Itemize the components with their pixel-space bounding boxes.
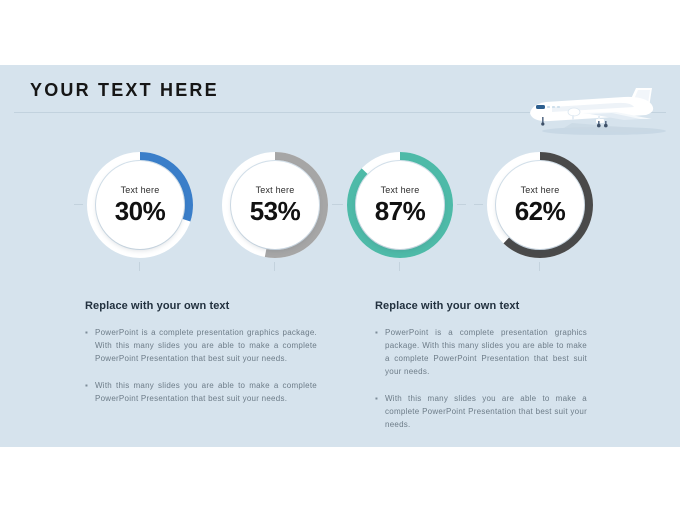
- gauge-1-tick-bottom: [139, 262, 140, 271]
- list-item: ▪ PowerPoint is a complete presentation …: [85, 326, 317, 365]
- gauge-1[interactable]: Text here 30%: [85, 150, 195, 260]
- gauge-3-center: Text here 87%: [356, 161, 444, 249]
- bullet-marker: ▪: [375, 392, 385, 431]
- gauge-2-tick-bottom: [274, 262, 275, 271]
- gauge-3[interactable]: Text here 87%: [345, 150, 455, 260]
- list-item: ▪ PowerPoint is a complete presentation …: [375, 326, 587, 378]
- gauge-3-tick-right: [457, 204, 466, 205]
- gauge-1-center: Text here 30%: [96, 161, 184, 249]
- text-column-right: Replace with your own text ▪ PowerPoint …: [375, 300, 587, 445]
- list-item: ▪ With this many slides you are able to …: [375, 392, 587, 431]
- column-left-heading: Replace with your own text: [85, 300, 317, 312]
- gauge-2-center: Text here 53%: [231, 161, 319, 249]
- bullet-text: With this many slides you are able to ma…: [385, 392, 587, 431]
- bullet-marker: ▪: [375, 326, 385, 378]
- gauge-3-tick-bottom: [399, 262, 400, 271]
- gauge-2[interactable]: Text here 53%: [220, 150, 330, 260]
- gauge-4-value: 62%: [515, 197, 566, 225]
- gauge-4-label: Text here: [521, 185, 560, 196]
- airplane-icon: [512, 83, 677, 139]
- slide-canvas: YOUR TEXT HERE: [0, 65, 680, 447]
- gauge-row: Text here 30% Text here 53%: [0, 150, 680, 270]
- gauge-4[interactable]: Text here 62%: [485, 150, 595, 260]
- text-column-left: Replace with your own text ▪ PowerPoint …: [85, 300, 317, 419]
- gauge-1-value: 30%: [115, 197, 166, 225]
- gauge-3-value: 87%: [375, 197, 426, 225]
- bullet-text: PowerPoint is a complete presentation gr…: [385, 326, 587, 378]
- gauge-1-label: Text here: [121, 185, 160, 196]
- bullet-text: PowerPoint is a complete presentation gr…: [95, 326, 317, 365]
- gauge-4-tick-left: [474, 204, 483, 205]
- slide-page: YOUR TEXT HERE: [0, 0, 680, 510]
- gauge-3-label: Text here: [381, 185, 420, 196]
- list-item: ▪ With this many slides you are able to …: [85, 379, 317, 405]
- page-title: YOUR TEXT HERE: [30, 80, 219, 101]
- gauge-4-tick-bottom: [539, 262, 540, 271]
- gauge-4-center: Text here 62%: [496, 161, 584, 249]
- gauge-3-tick-left: [334, 204, 343, 205]
- bullet-marker: ▪: [85, 326, 95, 365]
- column-right-heading: Replace with your own text: [375, 300, 587, 312]
- bullet-text: With this many slides you are able to ma…: [95, 379, 317, 405]
- gauge-2-label: Text here: [256, 185, 295, 196]
- gauge-1-tick-left: [74, 204, 83, 205]
- bullet-marker: ▪: [85, 379, 95, 405]
- gauge-2-value: 53%: [250, 197, 301, 225]
